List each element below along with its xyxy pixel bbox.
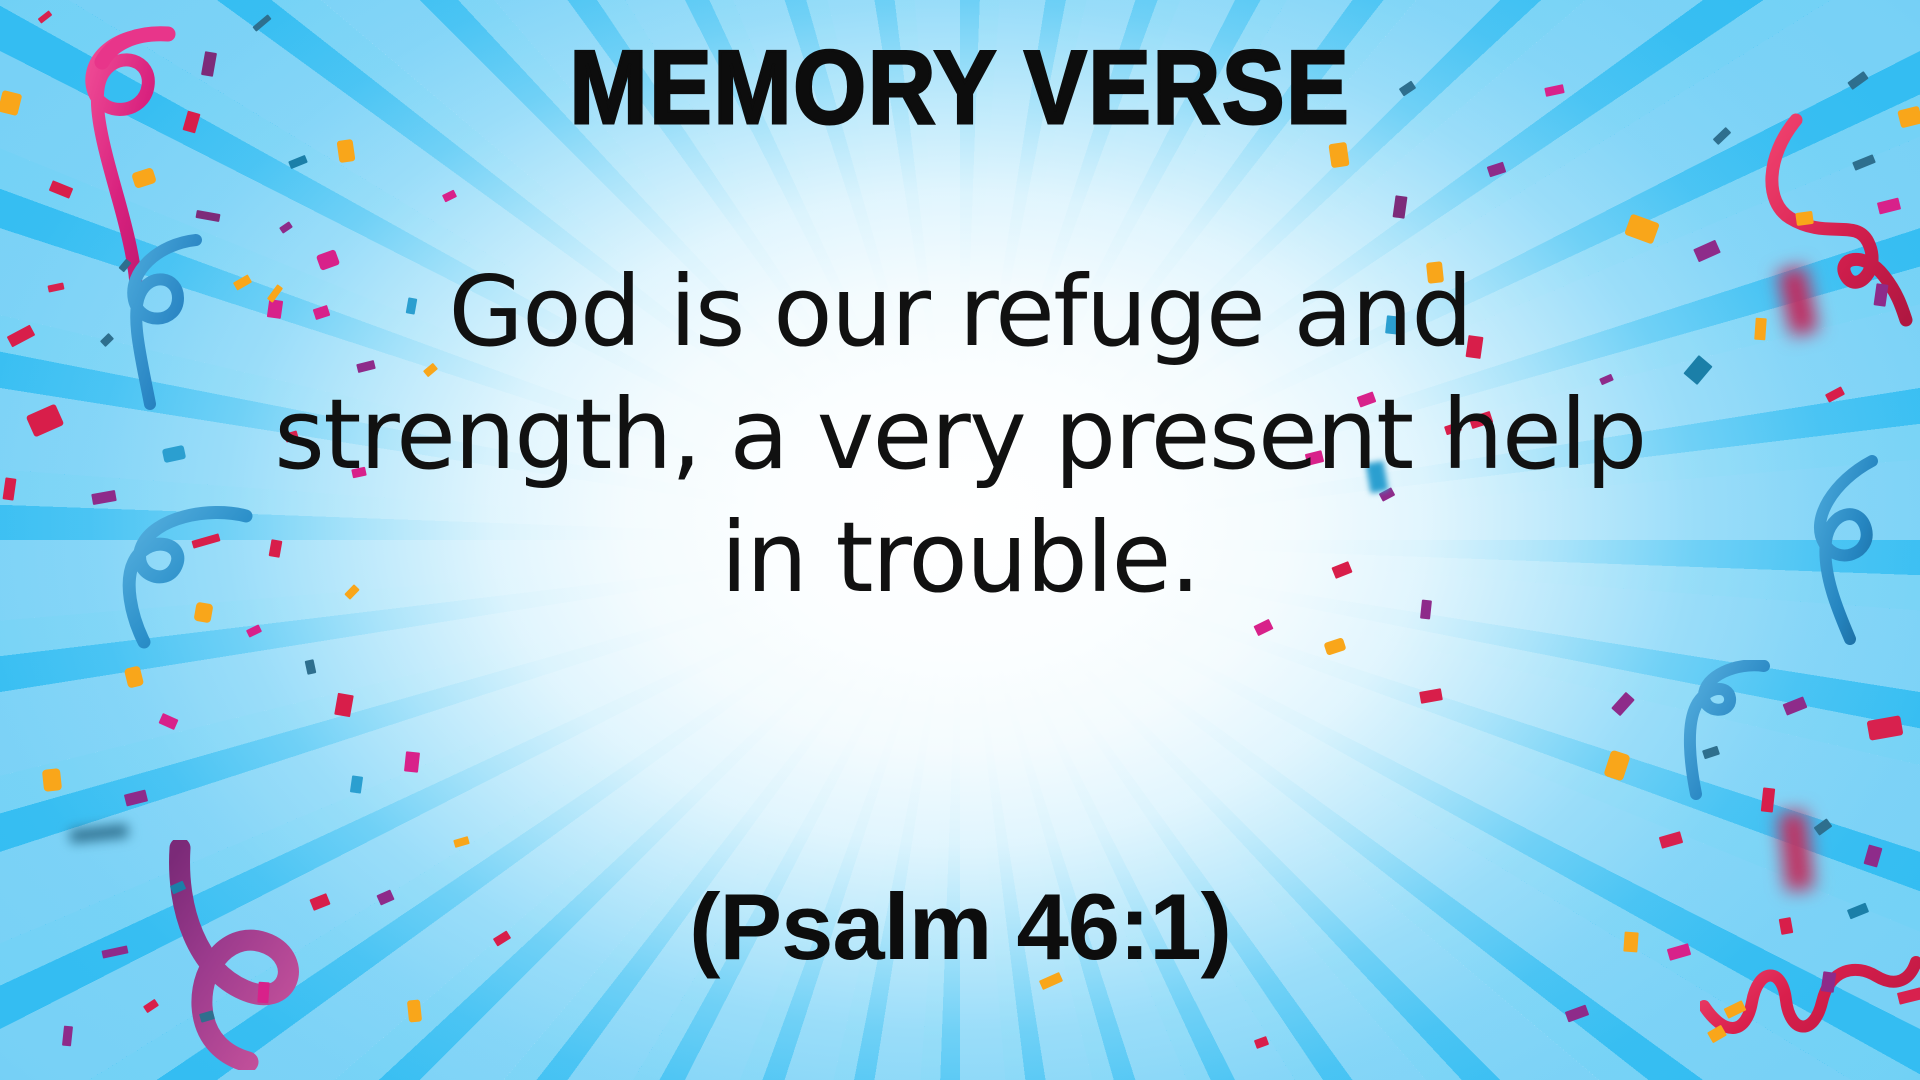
memory-verse-slide: MEMORY VERSE God is our refuge and stren… bbox=[0, 0, 1920, 1080]
verse-line: strength, a very present help bbox=[180, 373, 1740, 496]
verse-line: God is our refuge and bbox=[180, 250, 1740, 373]
verse-line: in trouble. bbox=[180, 496, 1740, 619]
slide-content: MEMORY VERSE God is our refuge and stren… bbox=[0, 0, 1920, 1080]
page-title: MEMORY VERSE bbox=[96, 36, 1824, 140]
verse-reference: (Psalm 46:1) bbox=[0, 880, 1920, 974]
verse-text-block: God is our refuge and strength, a very p… bbox=[180, 250, 1740, 620]
